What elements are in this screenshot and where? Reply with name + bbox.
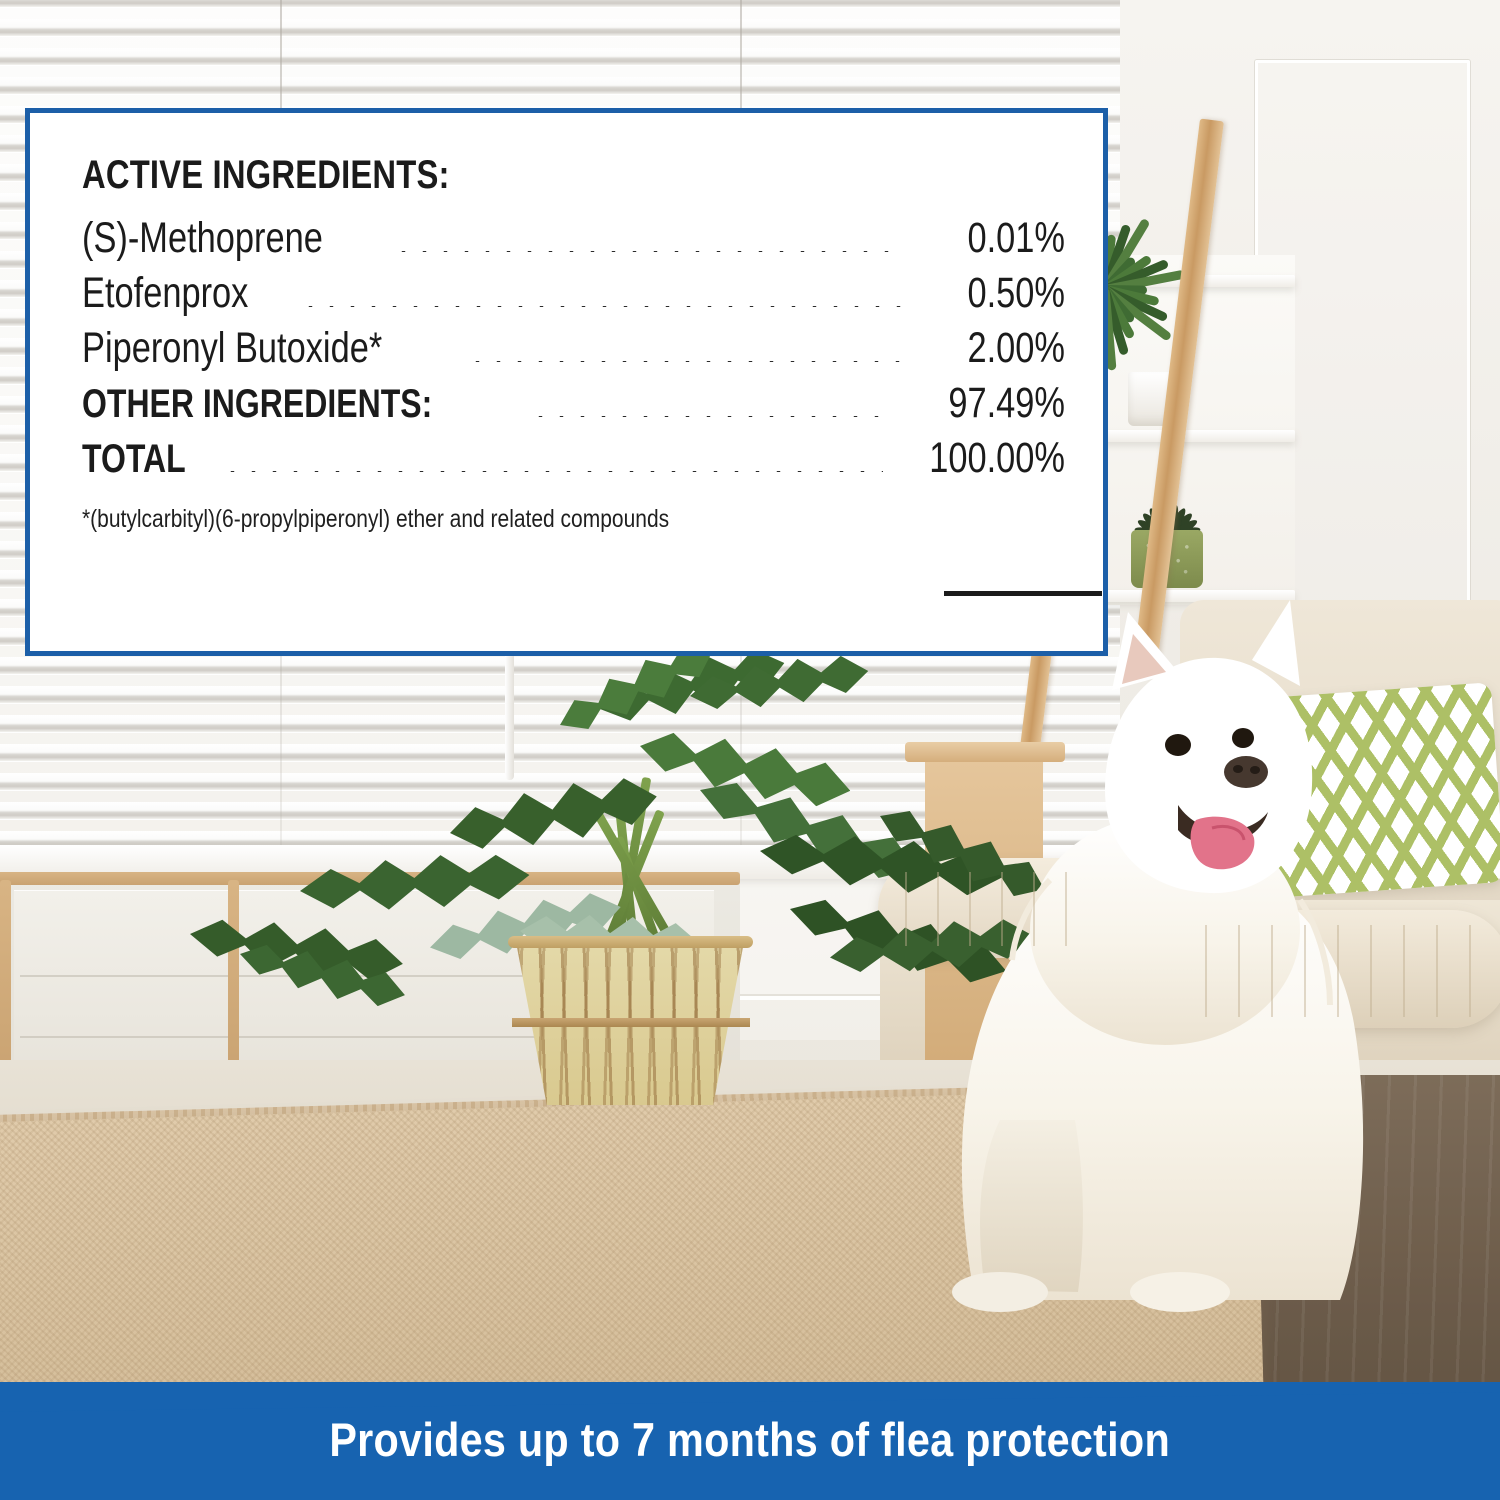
sofa-fold [1304,925,1306,1017]
rattan-basket-band [512,1018,750,1027]
ingredient-row: Etofenprox 0.50% [82,269,1065,318]
leader-dots [467,361,903,362]
total-separator-rule [944,591,1102,596]
footnote-text: *(butylcarbityl)(6-propylpiperonyl) ethe… [82,505,908,534]
other-ingredients-row: OTHER INGREDIENTS: 97.49% [82,379,1065,428]
rattan-basket-rim [508,936,753,948]
plant-leaf [298,844,532,922]
leader-dots [393,251,903,252]
sofa-fold [969,872,971,946]
sofa-fold [1436,925,1438,1017]
ingredient-name: (S)-Methoprene [82,214,323,263]
plant-leaf [686,645,871,722]
sofa-fold [1205,925,1207,1017]
banner-label-text: Provides up to 7 months of flea protecti… [330,1412,1171,1467]
other-ingredients-label: OTHER INGREDIENTS: [82,382,432,427]
sofa-fold [1370,925,1372,1017]
sofa-fold [1337,925,1339,1017]
total-row: TOTAL 100.00% [82,434,1065,483]
bottom-banner: Provides up to 7 months of flea protecti… [0,1382,1500,1500]
total-value: 100.00% [927,434,1065,483]
ingredient-value: 0.01% [943,214,1065,263]
sofa-fold [1271,925,1273,1017]
leader-dots [530,416,883,417]
ingredient-row: Piperonyl Butoxide* 2.00% [82,324,1065,373]
banner-label: Provides up to 7 months of flea protecti… [0,1412,1500,1467]
sofa-fold [937,872,939,946]
sofa-fold [1065,872,1067,946]
sofa-fold [1469,925,1471,1017]
panel-heading: ACTIVE INGREDIENTS: [82,153,888,198]
ingredients-panel: ACTIVE INGREDIENTS: (S)-Methoprene 0.01%… [25,108,1108,656]
total-label: TOTAL [82,437,186,482]
ingredient-value: 0.50% [943,269,1065,318]
ingredient-value: 2.00% [943,324,1065,373]
sofa-fold [1238,925,1240,1017]
other-ingredients-value: 97.49% [927,379,1065,428]
ingredient-name: Piperonyl Butoxide* [82,324,382,373]
ingredient-name: Etofenprox [82,269,248,318]
sofa-fold [1403,925,1405,1017]
leader-dots [222,471,883,472]
sofa-fold [1001,872,1003,946]
leader-dots [300,306,903,307]
sofa-fold [905,872,907,946]
ingredient-row: (S)-Methoprene 0.01% [82,214,1065,263]
sofa-fold [1033,872,1035,946]
